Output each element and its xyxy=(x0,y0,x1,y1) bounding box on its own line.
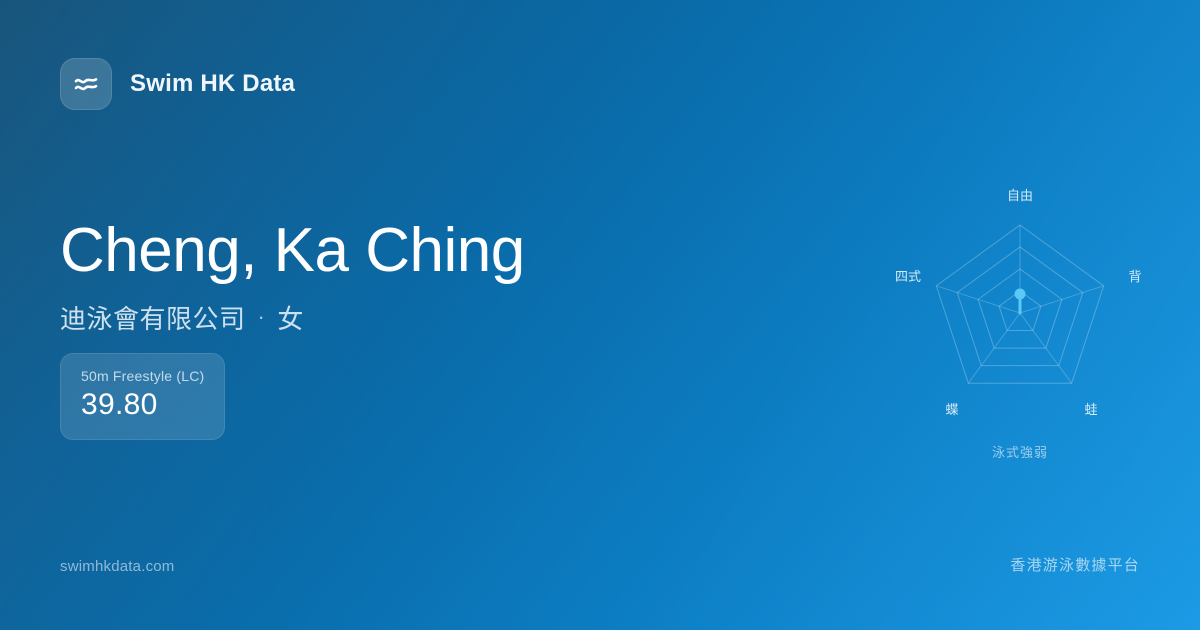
stroke-strength-radar: 自由 背 蛙 蝶 四式 泳式強弱 xyxy=(880,170,1160,470)
stat-value: 39.80 xyxy=(81,388,204,423)
best-time-card: 50m Freestyle (LC) 39.80 xyxy=(60,353,225,440)
athlete-share-card: Swim HK Data Cheng, Ka Ching 迪泳會有限公司 · 女… xyxy=(0,0,1200,630)
brand-name: Swim HK Data xyxy=(130,70,295,98)
radar-label-butterfly: 蝶 xyxy=(945,402,958,417)
brand-lockup: Swim HK Data xyxy=(60,58,295,110)
meta-separator: · xyxy=(256,304,268,330)
radar-label-medley: 四式 xyxy=(895,269,921,284)
athlete-identity: Cheng, Ka Ching 迪泳會有限公司 · 女 xyxy=(60,218,525,336)
stat-label: 50m Freestyle (LC) xyxy=(81,368,204,384)
radar-caption: 泳式強弱 xyxy=(880,442,1160,461)
radar-label-freestyle: 自由 xyxy=(1007,188,1033,203)
radar-label-breaststroke: 蛙 xyxy=(1084,402,1097,417)
footer-site-url: swimhkdata.com xyxy=(60,558,175,575)
radar-svg: 自由 背 蛙 蝶 四式 xyxy=(880,170,1160,450)
radar-series-stroke-strength xyxy=(1015,289,1026,314)
page-title: Cheng, Ka Ching xyxy=(60,218,525,285)
footer-tagline: 香港游泳數據平台 xyxy=(1010,554,1140,575)
athlete-meta: 迪泳會有限公司 · 女 xyxy=(60,299,525,336)
athlete-gender: 女 xyxy=(277,299,304,336)
radar-label-backstroke: 背 xyxy=(1128,269,1141,284)
wave-approx-icon xyxy=(60,58,112,110)
athlete-club: 迪泳會有限公司 xyxy=(60,299,246,336)
